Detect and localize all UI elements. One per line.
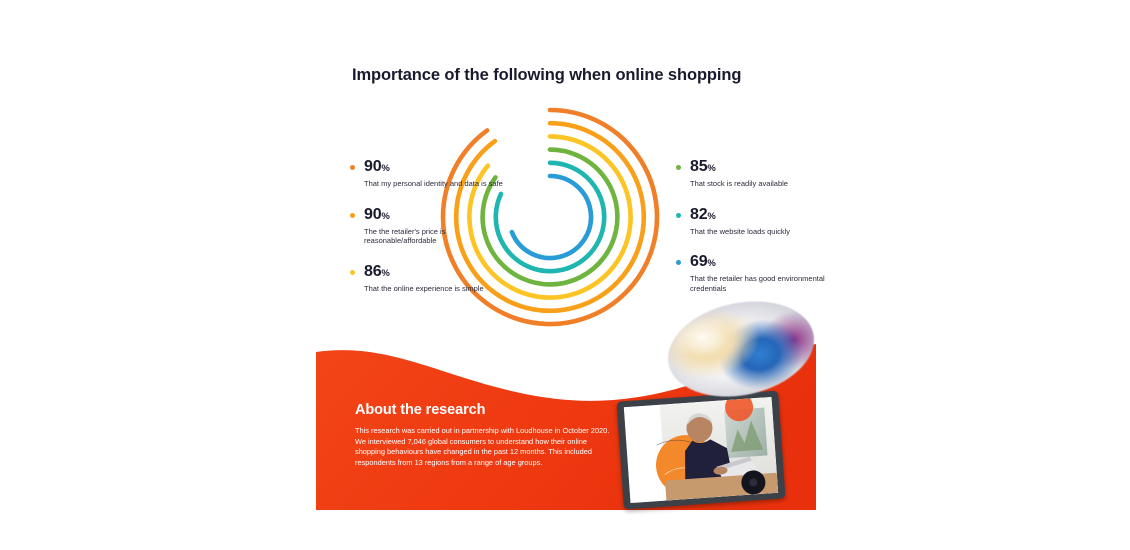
legend-value: 90% xyxy=(364,206,520,225)
legend-number: 82 xyxy=(690,206,707,223)
legend-bullet-icon xyxy=(350,165,355,170)
percent-symbol: % xyxy=(381,163,389,174)
legend-column-left: 90% That my personal identity and data i… xyxy=(350,158,520,310)
page-title: Importance of the following when online … xyxy=(352,66,741,85)
percent-symbol: % xyxy=(381,268,389,279)
legend-bullet-icon xyxy=(676,165,681,170)
legend-value: 86% xyxy=(364,263,520,282)
legend-value: 82% xyxy=(690,206,846,225)
man-using-laptop-photo xyxy=(624,397,778,503)
legend-number: 69 xyxy=(690,253,707,270)
tablet-screen xyxy=(624,397,778,503)
legend-value: 90% xyxy=(364,158,520,177)
legend-description: That my personal identity and data is sa… xyxy=(364,179,514,189)
legend-value: 69% xyxy=(690,253,846,272)
legend-bullet-icon xyxy=(676,213,681,218)
legend-item[interactable]: 85% That stock is readily available xyxy=(676,158,846,189)
legend-bullet-icon xyxy=(350,270,355,275)
legend-description: That the retailer has good environmental… xyxy=(690,274,840,293)
legend-description: That stock is readily available xyxy=(690,179,840,189)
legend-bullet-icon xyxy=(350,213,355,218)
legend-bullet-icon xyxy=(676,260,681,265)
percent-symbol: % xyxy=(707,163,715,174)
legend-description: That the online experience is simple xyxy=(364,284,514,294)
legend-item[interactable]: 90% That my personal identity and data i… xyxy=(350,158,520,189)
legend-number: 85 xyxy=(690,158,707,175)
legend-column-right: 85% That stock is readily available 82% … xyxy=(676,158,846,310)
legend-item[interactable]: 90% The the retailer's price is reasonab… xyxy=(350,206,520,246)
about-research-block: About the research This research was car… xyxy=(355,402,620,468)
percent-symbol: % xyxy=(381,211,389,222)
legend-item[interactable]: 82% That the website loads quickly xyxy=(676,206,846,237)
legend-value: 85% xyxy=(690,158,846,177)
about-body: This research was carried out in partner… xyxy=(355,426,613,468)
tablet-device xyxy=(616,390,785,509)
legend-item[interactable]: 69% That the retailer has good environme… xyxy=(676,253,846,293)
legend-description: The the retailer's price is reasonable/a… xyxy=(364,227,514,246)
percent-symbol: % xyxy=(707,211,715,222)
about-title: About the research xyxy=(355,402,620,418)
legend-number: 90 xyxy=(364,206,381,223)
legend-number: 90 xyxy=(364,158,381,175)
infographic-root: Importance of the following when online … xyxy=(0,0,1130,550)
percent-symbol: % xyxy=(707,258,715,269)
arc-segment xyxy=(512,176,591,258)
legend-item[interactable]: 86% That the online experience is simple xyxy=(350,263,520,294)
legend-number: 86 xyxy=(364,263,381,280)
legend-description: That the website loads quickly xyxy=(690,227,840,237)
